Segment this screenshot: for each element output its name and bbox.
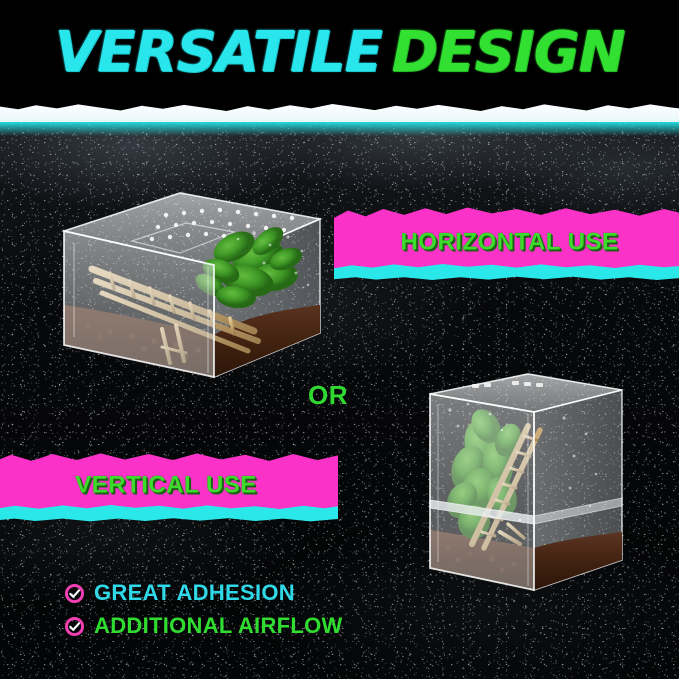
title-word-secondary: DESIGN xyxy=(392,20,625,85)
check-circle-icon xyxy=(64,616,85,637)
banner-horizontal-use: HORIZONTAL USE xyxy=(334,206,679,280)
list-item: ADDITIONAL AIRFLOW xyxy=(64,613,343,639)
product-feature-image: HORIZONTAL USE VERTICAL USE OR VERSATILE… xyxy=(0,0,679,679)
feature-label: ADDITIONAL AIRFLOW xyxy=(94,613,343,639)
feature-label: GREAT ADHESION xyxy=(94,580,295,606)
banner-vertical-label: VERTICAL USE xyxy=(0,471,338,499)
list-item: GREAT ADHESION xyxy=(64,580,343,606)
tank-front-panel xyxy=(430,394,534,590)
feature-list: GREAT ADHESION ADDITIONAL AIRFLOW xyxy=(64,580,343,639)
horizontal-terrarium-image xyxy=(58,185,326,395)
banner-horizontal-label: HORIZONTAL USE xyxy=(334,228,679,256)
check-circle-icon xyxy=(64,583,85,604)
page-title: VERSATILEDESIGN xyxy=(0,22,679,84)
or-divider-label: OR xyxy=(308,380,348,411)
vertical-terrarium-image xyxy=(424,364,628,602)
banner-vertical-use: VERTICAL USE xyxy=(0,452,338,520)
title-word-primary: VERSATILE xyxy=(55,20,382,85)
